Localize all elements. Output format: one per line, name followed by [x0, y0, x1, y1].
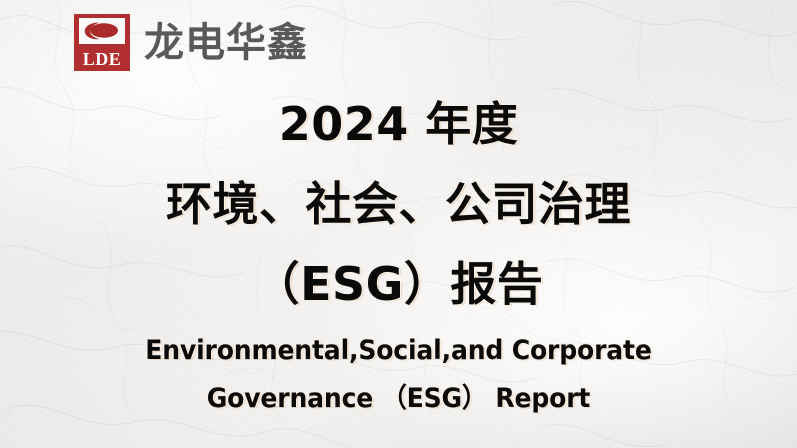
report-subtitle: Environmental,Social,and Corporate Gover…: [0, 327, 797, 423]
subtitle-line-1: Environmental,Social,and Corporate: [28, 327, 769, 375]
title-line-esg-chinese: 环境、社会、公司治理: [0, 164, 797, 244]
report-title: 2024 年度 环境、社会、公司治理 （ESG）报告: [0, 84, 797, 324]
brand-lockup: LDE 龙电华鑫: [74, 14, 308, 71]
title-line-report-chinese: （ESG）报告: [0, 244, 797, 324]
lde-logo-mark: LDE: [74, 14, 130, 71]
lde-crescent-oval-icon: [79, 18, 125, 44]
lde-logo-text: LDE: [83, 50, 122, 68]
esg-report-cover-slide: LDE 龙电华鑫 2024 年度 环境、社会、公司治理 （ESG）报告 Envi…: [0, 0, 797, 448]
company-name: 龙电华鑫: [144, 23, 308, 63]
title-line-year: 2024 年度: [0, 84, 797, 164]
subtitle-line-2: Governance （ESG） Report: [28, 375, 769, 423]
